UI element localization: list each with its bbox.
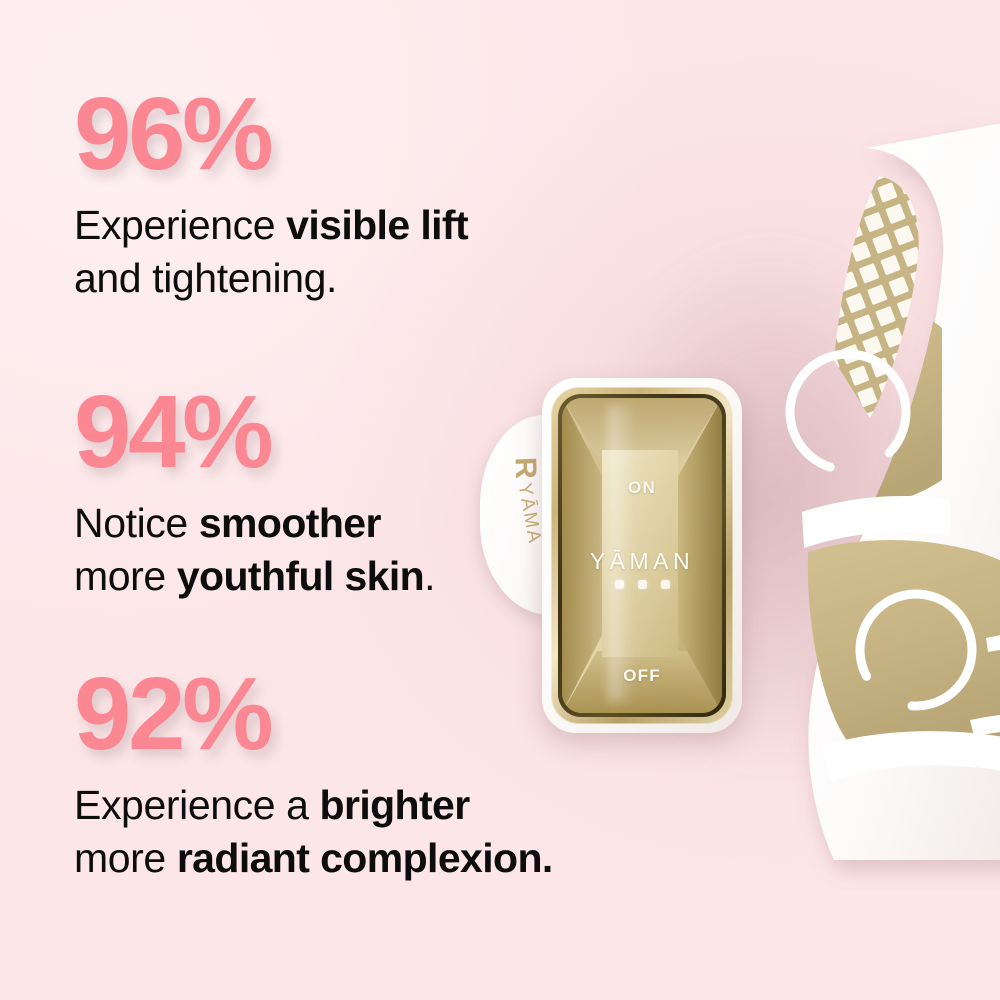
text-prefix: Notice <box>74 500 199 546</box>
text-bold: visible lift <box>286 202 468 248</box>
stat-description: Experience visible lift and tightening. <box>74 199 694 306</box>
stat-description-line: Experience a brighter <box>74 779 694 832</box>
stat-description-line: Experience visible lift <box>74 199 694 252</box>
text-prefix: Experience <box>74 202 286 248</box>
text-prefix: more <box>74 553 177 599</box>
text-bold: youthful skin <box>177 553 424 599</box>
stat-percent: 94% <box>74 380 694 483</box>
mesh-grid-icon <box>834 176 919 418</box>
stat-percent: 96% <box>74 82 694 185</box>
text-prefix: more <box>74 835 177 881</box>
stat-description: Notice smoother more youthful skin. <box>74 497 694 604</box>
stat-block: 92% Experience a brighter more radiant c… <box>74 662 694 886</box>
text-prefix: and tightening. <box>74 255 337 301</box>
text-bold: radiant complexion. <box>177 835 553 881</box>
stat-description-line: more youthful skin. <box>74 550 694 603</box>
stat-description: Experience a brighter more radiant compl… <box>74 779 694 886</box>
stat-block: 94% Notice smoother more youthful skin. <box>74 380 694 604</box>
stats-column: 96% Experience visible lift and tighteni… <box>74 0 694 1000</box>
marketing-graphic: R YĀMA ON YĀMAN <box>0 0 1000 1000</box>
text-suffix: . <box>424 553 435 599</box>
text-bold: brighter <box>320 782 470 828</box>
text-bold: smoother <box>199 500 381 546</box>
stat-description-line: Notice smoother <box>74 497 694 550</box>
stat-description-line: more radiant complexion. <box>74 832 694 885</box>
text-prefix: Experience a <box>74 782 320 828</box>
stat-percent: 92% <box>74 662 694 765</box>
stat-description-line: and tightening. <box>74 252 694 305</box>
stat-block: 96% Experience visible lift and tighteni… <box>74 82 694 306</box>
